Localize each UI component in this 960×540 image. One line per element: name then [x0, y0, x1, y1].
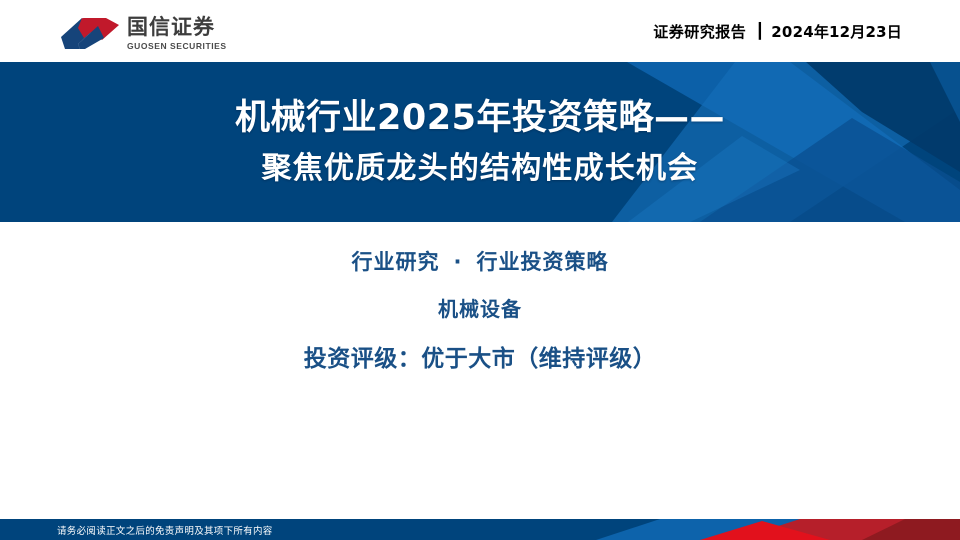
category-dot-icon: · [454, 250, 463, 274]
industry-name: 机械设备 [0, 293, 960, 322]
page-footer: 请务必阅读正文之后的免责声明及其项下所有内容 [0, 519, 960, 540]
report-cover-slide: 国信证券 GUOSEN SECURITIES 证券研究报告 ┃ 2024年12月… [0, 0, 960, 540]
report-date: 2024年12月23日 [771, 21, 902, 42]
header-separator-icon: ┃ [755, 22, 764, 40]
logo-english-name: GUOSEN SECURITIES [127, 42, 227, 51]
report-subtitle: 聚焦优质龙头的结构性成长机会 [262, 151, 699, 187]
report-type-label: 证券研究报告 [653, 21, 746, 42]
logo-chinese-name: 国信证券 [127, 17, 227, 38]
cover-body: 行业研究·行业投资策略 机械设备 投资评级：优于大市（维持评级） 证券分析师：吴… [0, 222, 960, 512]
header-meta: 证券研究报告 ┃ 2024年12月23日 [653, 0, 902, 62]
investment-rating: 投资评级：优于大市（维持评级） [0, 339, 960, 373]
guosen-logo-mark [58, 16, 120, 52]
research-category-right: 行业投资策略 [476, 250, 608, 274]
research-category-left: 行业研究 [352, 250, 440, 274]
research-category-line: 行业研究·行业投资策略 [0, 246, 960, 276]
brand-logo[interactable]: 国信证券 GUOSEN SECURITIES [58, 14, 227, 54]
page-header: 国信证券 GUOSEN SECURITIES 证券研究报告 ┃ 2024年12月… [0, 0, 960, 62]
footer-disclaimer: 请务必阅读正文之后的免责声明及其项下所有内容 [57, 519, 273, 540]
report-meta-lines: 行业研究·行业投资策略 机械设备 投资评级：优于大市（维持评级） [0, 246, 960, 373]
logo-wordmark: 国信证券 GUOSEN SECURITIES [127, 17, 227, 51]
title-banner: 机械行业2025年投资策略—— 聚焦优质龙头的结构性成长机会 [0, 62, 960, 222]
report-title: 机械行业2025年投资策略—— [235, 97, 725, 139]
banner-text-block: 机械行业2025年投资策略—— 聚焦优质龙头的结构性成长机会 [0, 62, 960, 222]
